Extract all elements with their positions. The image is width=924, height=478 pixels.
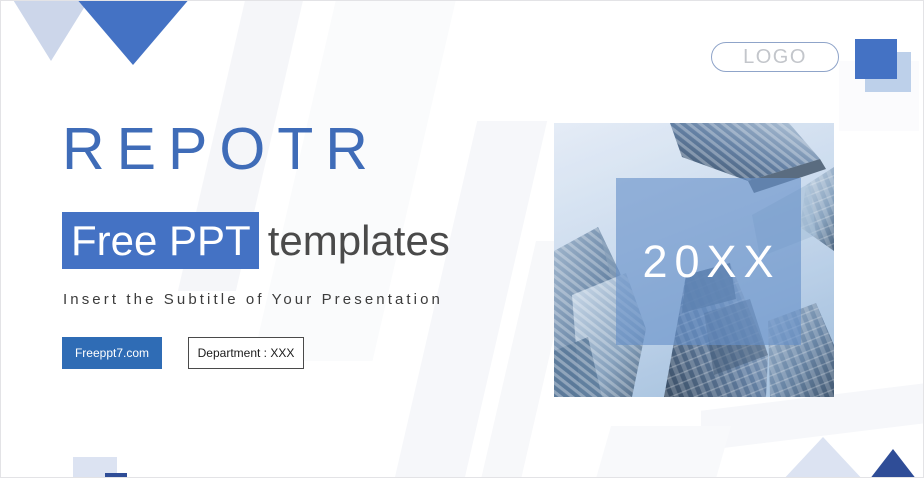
headline-tail: templates	[259, 212, 450, 269]
logo-label: LOGO	[743, 46, 807, 69]
bottom-right-pale-triangle-decoration	[767, 437, 879, 478]
slide-subtitle: Insert the Subtitle of Your Presentation	[63, 291, 443, 308]
year-badge-label: 20XX	[636, 236, 780, 288]
presentation-slide: LOGO REPOTR Free PPT templates Insert th…	[0, 0, 924, 478]
page-title: REPOTR	[62, 115, 380, 183]
logo-placeholder[interactable]: LOGO	[711, 42, 839, 72]
headline-row: Free PPT templates	[62, 212, 450, 269]
background-diagonal-wash	[591, 426, 731, 478]
year-badge: 20XX	[616, 178, 801, 345]
website-button[interactable]: Freeppt7.com	[62, 337, 162, 369]
department-button-label: Department : XXX	[198, 346, 295, 360]
headline-highlight: Free PPT	[62, 212, 259, 269]
website-button-label: Freeppt7.com	[75, 346, 149, 360]
department-button[interactable]: Department : XXX	[188, 337, 304, 369]
top-left-pale-triangle-decoration	[0, 0, 113, 61]
top-left-blue-triangle-decoration	[29, 0, 237, 65]
bottom-left-blue-rectangle-decoration	[105, 473, 127, 478]
logo-accent-square-solid	[855, 39, 897, 79]
bottom-right-blue-triangle-decoration	[859, 449, 924, 478]
